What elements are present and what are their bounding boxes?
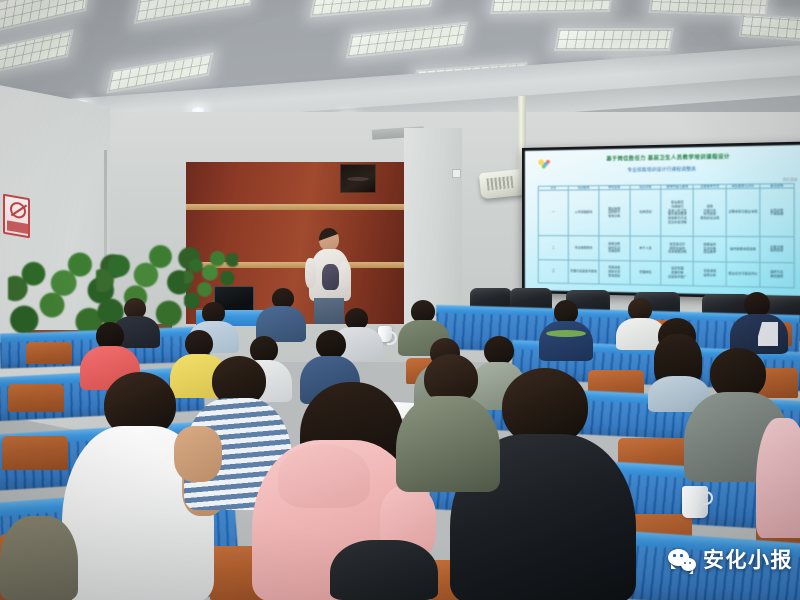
ceiling-light-panel	[490, 0, 614, 14]
audience-member	[538, 300, 594, 358]
wall-plate	[452, 169, 461, 178]
audience-torso	[756, 418, 800, 538]
slide-table-cell: 专题讲座经验交流现场观摩	[599, 260, 630, 285]
audience-head	[185, 330, 213, 357]
wall-pillar	[404, 128, 462, 324]
slide-table-cell: 管理与适宜技术模块	[568, 260, 598, 284]
audience-member-navy-jersey	[730, 292, 790, 352]
slide-table-row: 二专业技能模块技能训练操作实训带教指导骨干人员常见病诊疗规范化操作基本技能训练技…	[539, 236, 794, 263]
presenter-head	[319, 228, 339, 251]
slide-table-cell: 选修为主择优推荐	[760, 262, 794, 288]
slide-table-cell: 理论授课案例研讨现场示教	[599, 190, 630, 236]
audience-torso	[330, 540, 438, 600]
slide-table-cell: 结业论文与答辩评价	[726, 262, 759, 288]
slide-table-cell: 全员必修不得缺课	[760, 188, 794, 237]
audience-torso	[396, 396, 500, 492]
slide-table-cell: 专题讲座案例分析	[693, 261, 726, 286]
slide-table-cell: 分批分组轮转安排	[760, 237, 794, 263]
slide-title: 基于岗位胜任力 基层卫生人员教学培训课程设计	[562, 151, 779, 162]
slide-table-cell: 一	[539, 190, 569, 235]
slide-table-cell: 技能操作实训带教床边教学	[693, 237, 726, 262]
slide-table-cell: 职业规范沟通技巧基本公共卫生服务规范要求健康教育方法应急处置流程	[661, 189, 693, 236]
slide-table-cell: 在岗培训	[630, 190, 662, 237]
slide-table-cell: 讲授分组讨论情景模拟角色扮演演练	[693, 189, 726, 237]
hood	[278, 444, 370, 508]
projection-screen: 基于岗位胜任力 基层卫生人员教学培训课程设计 专业技能培训设计行课程调整表 附件…	[522, 141, 800, 299]
slide-table-cell: 公共基础模块	[568, 190, 598, 236]
wall-speaker	[340, 164, 376, 193]
slide-table-cell: 过程考核与结业考核	[726, 189, 759, 237]
slide-table-cell: 技能训练操作实训带教指导	[599, 236, 630, 260]
audience-chair	[26, 342, 72, 364]
audience-member	[330, 540, 440, 600]
sign-text-block	[7, 220, 30, 234]
slide-table-cell: 操作技能考核合格	[726, 237, 759, 262]
white-mug	[682, 486, 708, 518]
no-smoking-sign	[3, 194, 30, 239]
audience-member	[0, 516, 80, 600]
presenter-arm	[339, 262, 351, 288]
slide-table-cell: 三	[539, 259, 569, 283]
slide-table-cell: 常见病诊疗规范化操作基本技能训练	[661, 236, 693, 261]
institution-logo-icon	[535, 156, 553, 170]
slide-note: 附件表格	[783, 177, 798, 183]
slide-table-row: 三管理与适宜技术模块专题讲座经验交流现场观摩管理岗位基层管理质量控制适宜技术推广…	[539, 259, 794, 288]
audience-member	[756, 418, 800, 538]
audience-torso	[539, 321, 593, 361]
slide-table-cell: 骨干人员	[630, 236, 662, 261]
audience-head	[316, 330, 346, 359]
audience-torso	[0, 516, 78, 600]
ceiling-light-panel	[554, 28, 674, 51]
slide-table-cell: 专业技能模块	[568, 236, 598, 260]
audience-chair	[8, 384, 64, 412]
wechat-bubble-small	[681, 558, 696, 571]
slide-subtitle: 专业技能培训设计行课程调整表	[573, 165, 755, 174]
presenter-shirt-print	[322, 264, 339, 290]
audience-member-olive-hoodie	[396, 354, 508, 486]
audience-chair	[2, 436, 68, 470]
projector-vent	[486, 176, 513, 191]
slide-table-cell: 二	[539, 236, 569, 260]
slide-table-cell: 管理岗位	[630, 260, 662, 285]
hoodie-trim	[546, 330, 586, 337]
wood-panel-trim	[186, 204, 408, 210]
slide-table: 序号培训模块学时安排培训对象教学内容与要求主要教学方式考核要求与评价备注说明 一…	[538, 183, 794, 289]
slide-table-cell: 基层管理质量控制适宜技术推广	[661, 261, 693, 286]
watermark-text: 安化小报	[703, 550, 793, 571]
presenter-arm	[305, 258, 316, 288]
audience-arm	[174, 426, 222, 482]
watermark: 安化小报	[668, 549, 793, 571]
jersey-number	[758, 322, 778, 346]
conference-room-photograph: 基于岗位胜任力 基层卫生人员教学培训课程设计 专业技能培训设计行课程调整表 附件…	[0, 0, 800, 600]
slide-table-row: 一公共基础模块理论授课案例研讨现场示教在岗培训职业规范沟通技巧基本公共卫生服务规…	[539, 188, 794, 237]
wechat-logo-icon	[668, 549, 696, 571]
slide-content: 基于岗位胜任力 基层卫生人员教学培训课程设计 专业技能培训设计行课程调整表 附件…	[525, 145, 800, 297]
